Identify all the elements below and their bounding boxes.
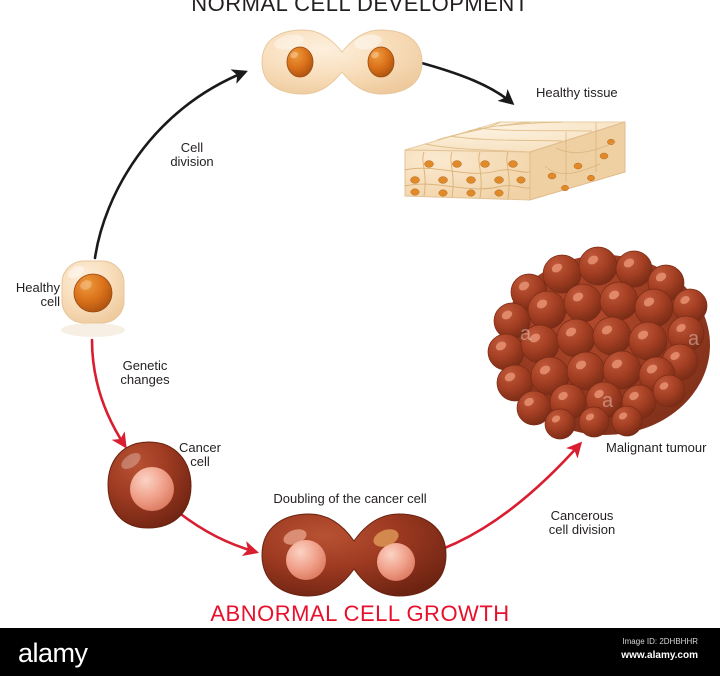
healthy-cell — [61, 261, 125, 337]
image-id-text: Image ID: 2DHBHHR — [622, 637, 698, 646]
malignant-tumour-mass — [488, 247, 710, 439]
arrow-genetic-changes — [92, 340, 125, 446]
label-healthy-tissue: Healthy tissue — [536, 86, 618, 100]
label-healthy-cell: Healthy cell — [0, 281, 60, 309]
page-title-abnormal: ABNORMAL CELL GROWTH — [0, 601, 720, 627]
label-doubling-cancer-cell: Doubling of the cancer cell — [250, 492, 450, 506]
cell-development-diagram: NORMAL CELL DEVELOPMENT Healthy cell Cel… — [0, 0, 720, 628]
doubling-cancer-cells — [262, 514, 446, 596]
page-title-normal: NORMAL CELL DEVELOPMENT — [0, 0, 720, 17]
label-cancer-cell: Cancer cell — [163, 441, 237, 469]
arrow-cancer-doubling — [178, 512, 256, 552]
label-cancerous-cell-division: Cancerous cell division — [527, 509, 637, 537]
alamy-logo[interactable]: alamy — [18, 638, 88, 669]
diagram-canvas: NORMAL CELL DEVELOPMENT Healthy cell Cel… — [0, 0, 720, 676]
label-genetic-changes: Genetic changes — [101, 359, 189, 387]
arrow-to-healthy-tissue — [418, 62, 512, 103]
alamy-url-link[interactable]: www.alamy.com — [621, 650, 698, 661]
label-malignant-tumour: Malignant tumour — [606, 441, 706, 455]
label-cell-division: Cell division — [150, 141, 234, 169]
healthy-tissue-block — [405, 122, 625, 200]
alamy-watermark-bar — [0, 628, 720, 676]
dividing-healthy-cells — [262, 30, 422, 94]
